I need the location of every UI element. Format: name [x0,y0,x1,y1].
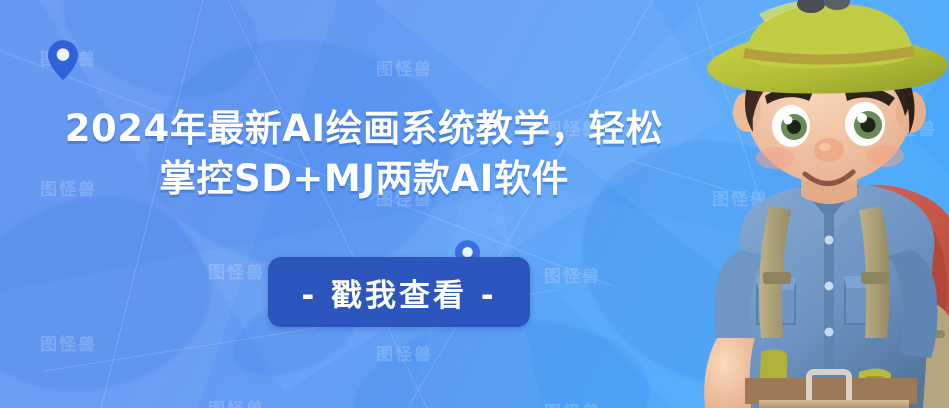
watermark-text: 图怪兽 [880,398,937,408]
explorer-boy-svg [649,0,949,408]
sleeve-right [887,250,937,358]
shirt-placket [824,214,834,394]
backpack-strap-left [759,206,791,338]
nose [814,138,844,162]
watermark-text: 图怪兽 [40,330,97,355]
eyebrow-right [845,87,895,106]
shirt-button [825,236,834,245]
head [745,24,913,184]
shirt-pocket-flap-left [755,278,797,290]
pupil-left [787,120,801,134]
background-crease-line [177,0,485,408]
promo-banner: 图怪兽图怪兽图怪兽图怪兽图怪兽图怪兽图怪兽图怪兽图怪兽图怪兽图怪兽图怪兽图怪兽图… [0,0,949,408]
watermark-text: 图怪兽 [208,395,265,408]
shirt [740,183,935,408]
hat-highlight [759,1,831,23]
watermark-text: 图怪兽 [376,340,433,365]
hat-badge [797,0,825,13]
watermark-text: 图怪兽 [208,258,265,283]
iris-left [781,114,807,140]
eye-white-right [845,102,885,146]
shirt-button [825,328,834,337]
shirt-button [825,282,834,291]
backpack-pocket-right [880,298,949,408]
iris-right [854,111,882,139]
hat-badge [824,0,850,10]
map-landmass [0,176,227,408]
eyebrow-left [765,87,813,104]
nose-highlight [819,143,831,151]
shirt-pocket-flap-right [843,276,889,288]
shirt-pocket-left [757,282,795,324]
pants [759,400,909,408]
shirt-collar [799,180,859,220]
shirt-pocket-right [845,280,887,324]
hair-sideburn-right [899,86,915,134]
background-crease-line [680,0,842,408]
cheek-left [756,147,794,169]
strap-pouch-left [759,349,787,398]
hat-brim [707,34,947,94]
strap-pouch-right [857,368,891,408]
hair-sideburn-left [745,84,763,132]
backpack-pocket-seam [901,330,945,338]
background-facet [485,0,949,408]
hat-crown [745,4,913,68]
neck [801,150,857,204]
arm-left [704,338,755,408]
ear-right [896,91,926,133]
sleeve-left [715,250,767,360]
collar-right [829,186,867,228]
background-crease-line [70,0,231,408]
hat-band [743,46,915,65]
explorer-boy-illustration [649,0,949,408]
watermark-text: 图怪兽 [880,262,937,287]
backpack-strap-right [859,206,890,338]
watermark-layer: 图怪兽图怪兽图怪兽图怪兽图怪兽图怪兽图怪兽图怪兽图怪兽图怪兽图怪兽图怪兽图怪兽图… [0,0,949,408]
watermark-text: 图怪兽 [40,45,97,70]
pupil-right [861,118,876,133]
watermark-text: 图怪兽 [712,55,769,80]
page-title: 2024年最新AI绘画系统教学，轻松 掌控SD+MJ两款AI软件 [34,104,694,204]
mouth [805,172,853,184]
eye-highlight-left [784,116,793,125]
watermark-text: 图怪兽 [544,398,601,408]
strap-buckle-left [763,272,791,284]
hair [750,30,910,118]
backpack-shadow [871,196,947,338]
strap-pouch-flap [865,376,885,384]
cta-button[interactable]: - 戳我查看 - [268,257,530,327]
cheek-right [866,145,904,167]
strap-buckle-right [861,272,889,284]
background-crease-line [366,0,676,408]
collar-left [791,186,829,228]
backpack [797,185,949,408]
eye-highlight-right [857,113,867,123]
watermark-text: 图怪兽 [880,115,937,140]
watermark-text: 图怪兽 [712,185,769,210]
watermark-text: 图怪兽 [712,340,769,365]
belt-buckle [809,372,849,408]
watermark-text: 图怪兽 [544,262,601,287]
belt [745,378,917,404]
map-pin-top-left-icon [48,40,78,81]
watermark-text: 图怪兽 [376,55,433,80]
ear-left [733,92,761,132]
background-facet [0,0,342,408]
eye-white-left [772,105,810,147]
